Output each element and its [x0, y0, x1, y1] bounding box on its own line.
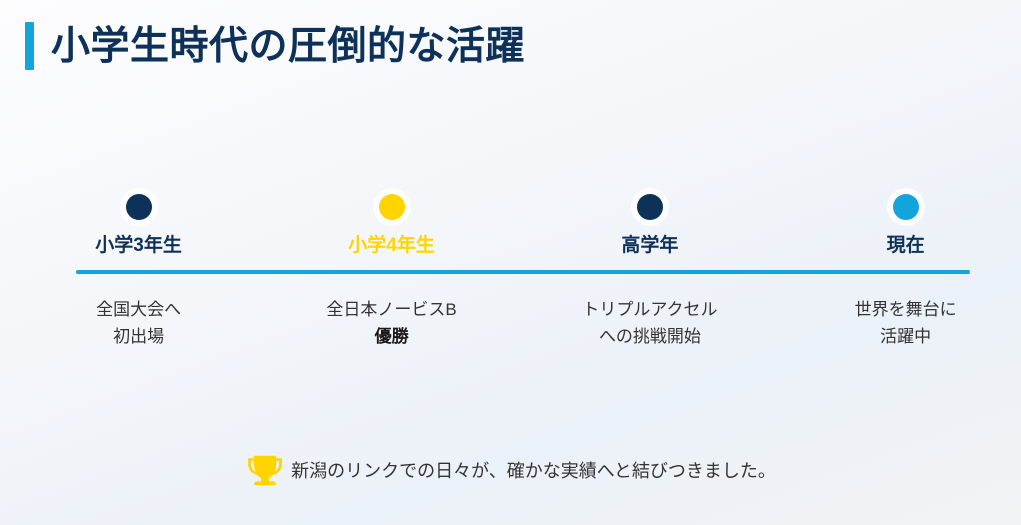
milestone-description-4: 世界を舞台に活躍中: [855, 296, 957, 350]
description-line: 初出場: [96, 323, 181, 350]
milestone-marker-4: [893, 194, 919, 220]
milestone-label-3: 高学年: [621, 230, 678, 257]
milestone-description-2: 全日本ノービスB優勝: [326, 296, 456, 350]
footer-caption-text: 新潟のリンクでの日々が、確かな実績へと結びつきました。: [291, 462, 776, 482]
milestone-label-1: 小学3年生: [95, 230, 182, 257]
description-line: 全国大会へ: [96, 296, 181, 323]
milestone-label-4: 現在: [887, 230, 925, 257]
milestone-label-2: 小学4年生: [348, 230, 435, 257]
description-line: 優勝: [326, 323, 456, 350]
timeline: 小学3年生小学4年生高学年現在: [76, 185, 970, 262]
milestone-description-3: トリプルアクセルへの挑戦開始: [582, 296, 717, 350]
description-line: 活躍中: [855, 323, 957, 350]
title-accent-bar: [25, 22, 34, 70]
timeline-markers: [76, 185, 970, 230]
footer-caption: 新潟のリンクでの日々が、確かな実績へと結びつきました。: [0, 450, 1021, 494]
trophy-icon: [245, 450, 285, 494]
milestone-description-1: 全国大会へ初出場: [96, 296, 181, 350]
page-title: 小学生時代の圧倒的な活躍: [25, 22, 525, 70]
timeline-descriptions: 全国大会へ初出場全日本ノービスB優勝トリプルアクセルへの挑戦開始世界を舞台に活躍…: [76, 296, 970, 366]
milestone-marker-2: [379, 194, 405, 220]
milestone-marker-3: [637, 194, 663, 220]
description-line: への挑戦開始: [582, 323, 717, 350]
timeline-labels: 小学3年生小学4年生高学年現在: [76, 230, 970, 262]
description-line: 全日本ノービスB: [326, 296, 456, 323]
timeline-axis-line: [76, 270, 970, 274]
slide-canvas: 小学生時代の圧倒的な活躍 小学3年生小学4年生高学年現在 全国大会へ初出場全日本…: [0, 0, 1021, 525]
description-line: 世界を舞台に: [855, 296, 957, 323]
page-title-text: 小学生時代の圧倒的な活躍: [51, 27, 525, 66]
description-line: トリプルアクセル: [582, 296, 717, 323]
milestone-marker-1: [126, 194, 152, 220]
